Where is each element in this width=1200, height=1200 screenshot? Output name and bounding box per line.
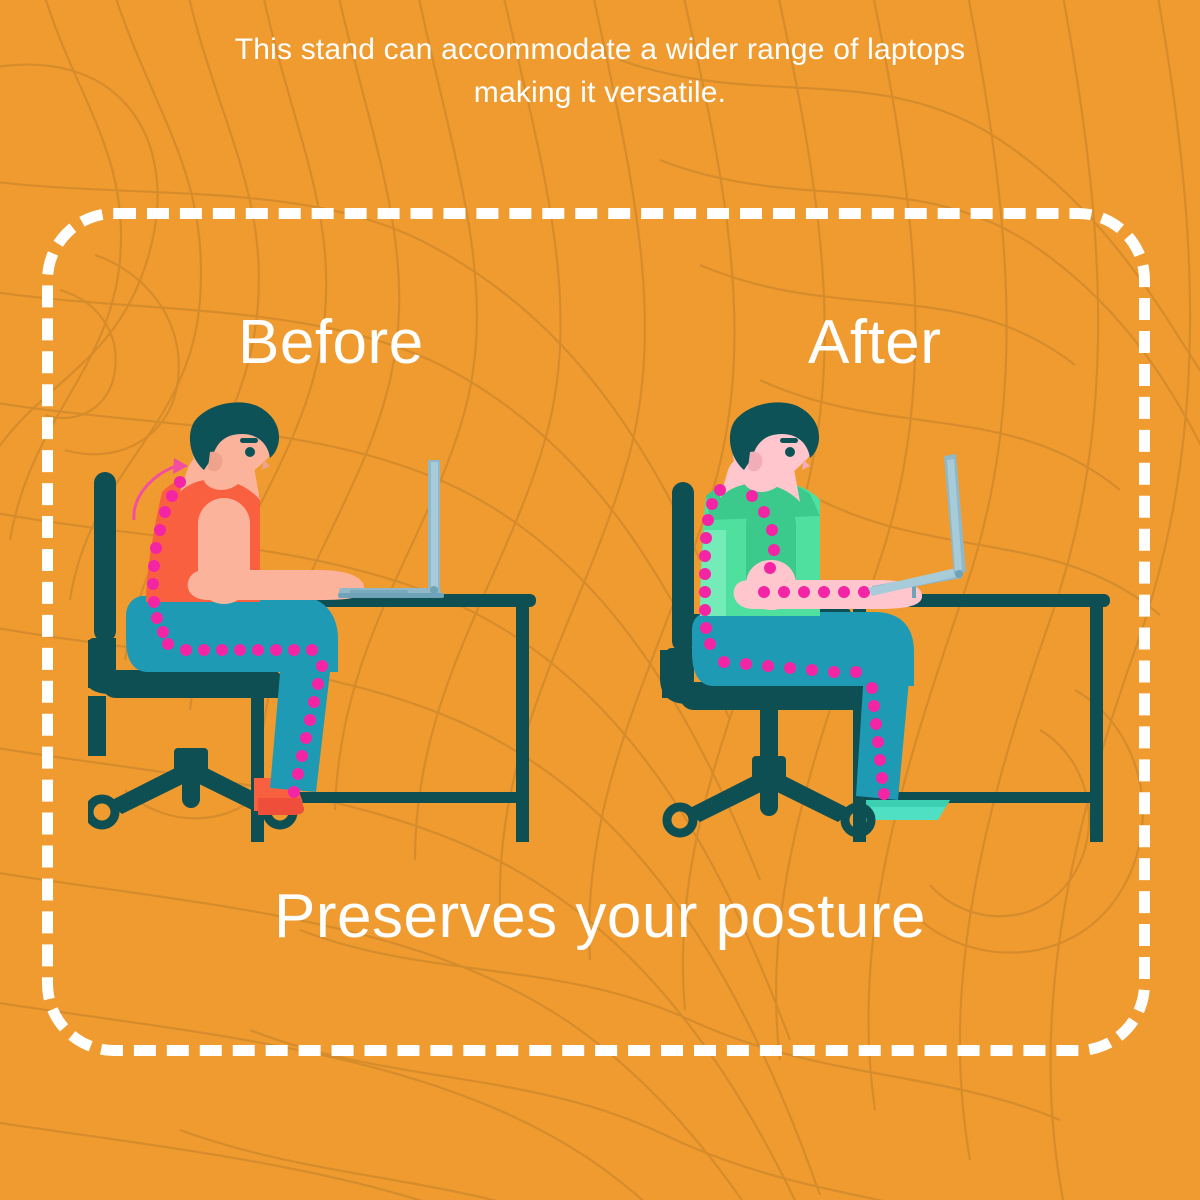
poster-canvas: This stand can accommodate a wider range… [0, 0, 1200, 1200]
illustration-before-slouched-posture [88, 400, 548, 850]
laptop-after [868, 454, 966, 598]
head-before [190, 402, 279, 490]
panel-label-before: Before [238, 312, 424, 374]
thigh-after [692, 612, 914, 686]
illustration-after-correct-posture [660, 400, 1120, 850]
page-headline: This stand can accommodate a wider range… [0, 28, 1200, 114]
footer-caption: Preserves your posture [0, 886, 1200, 948]
head-after [730, 402, 819, 492]
arrow-head-before [173, 458, 188, 474]
footrest-after [866, 800, 950, 820]
panel-label-after: After [808, 312, 941, 374]
